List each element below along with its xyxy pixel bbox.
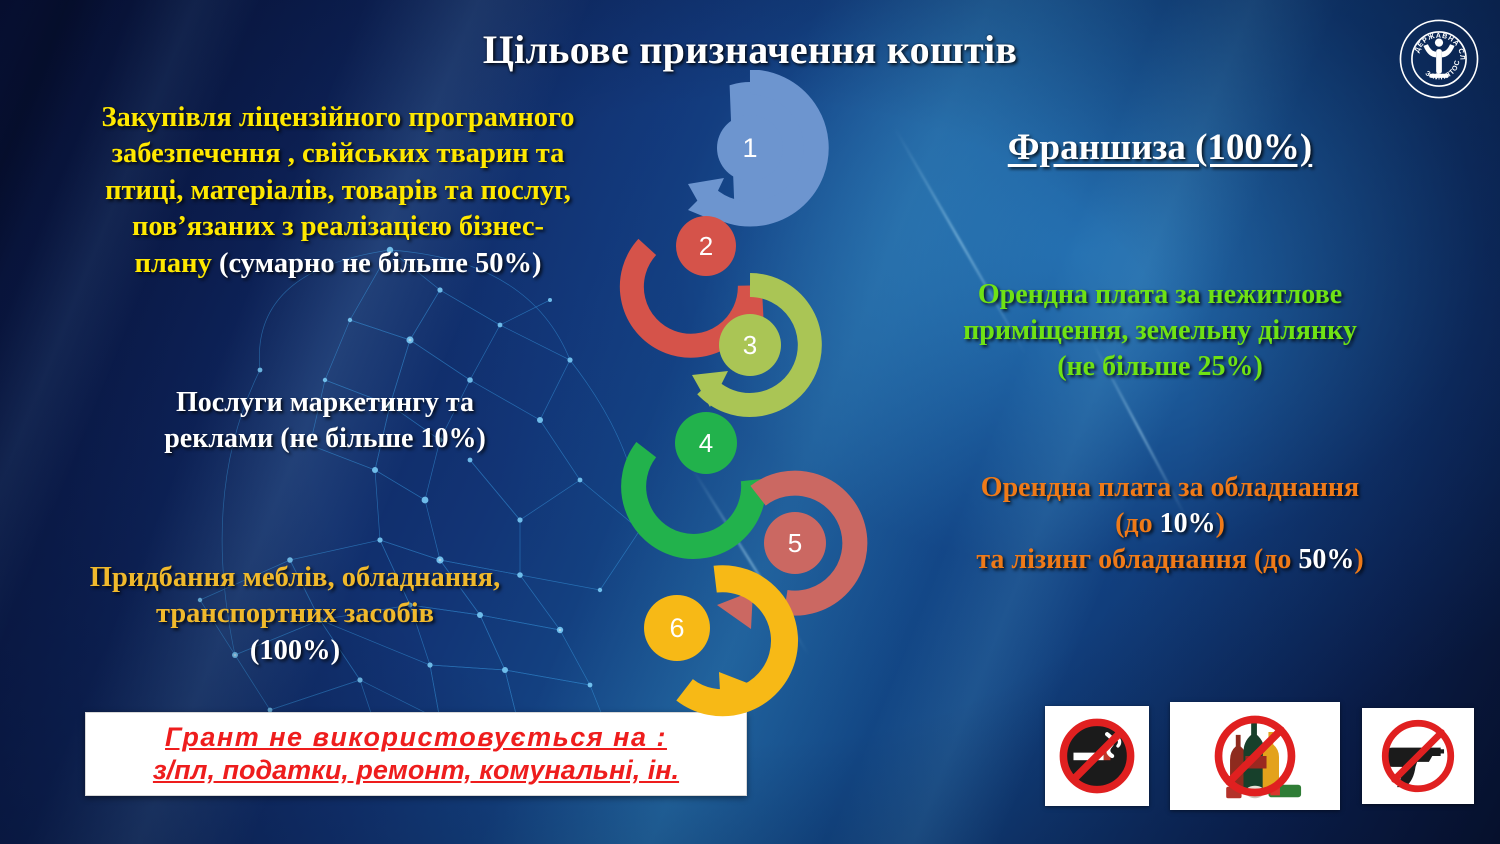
line: ) bbox=[1216, 508, 1225, 539]
line: Придбання меблів, обладнання, bbox=[90, 562, 500, 593]
line-limit: 10% bbox=[1160, 508, 1216, 539]
slide-canvas: Цільове призначення коштів ДЕРЖАВНА СЛУЖ… bbox=[0, 0, 1500, 844]
line: птиці, матеріалів, товарів та послуг, bbox=[105, 175, 571, 206]
step-number-4: 4 bbox=[699, 428, 713, 458]
no-alcohol-icon bbox=[1180, 708, 1330, 804]
line-limit: (сумарно не більше 50%) bbox=[219, 248, 542, 279]
line: транспортних засобів bbox=[156, 598, 434, 629]
restriction-list: з/пл, податки, ремонт, комунальні, ін. bbox=[153, 754, 679, 787]
page-title: Цільове призначення коштів bbox=[0, 26, 1500, 73]
no-weapons-sign bbox=[1362, 708, 1474, 804]
line: Орендна плата за обладнання bbox=[981, 472, 1359, 503]
no-smoking-icon bbox=[1055, 714, 1139, 798]
line: (до bbox=[1115, 508, 1160, 539]
line-limit: (100%) bbox=[250, 635, 340, 666]
line: забезпечення , свійських тварин та bbox=[112, 138, 565, 169]
line: Орендна плата за нежитлове bbox=[978, 279, 1342, 310]
line: приміщення, земельну ділянку bbox=[963, 315, 1357, 346]
no-weapons-icon bbox=[1370, 714, 1466, 798]
line: Послуги маркетингу та bbox=[176, 387, 474, 418]
no-alcohol-sign bbox=[1170, 702, 1340, 810]
step-number-1: 1 bbox=[742, 133, 757, 163]
step-number-6: 6 bbox=[669, 613, 684, 643]
line: пов’язаних з реалізацією бізнес- bbox=[132, 211, 544, 242]
line: Закупівля ліцензійного програмного bbox=[101, 102, 574, 133]
no-smoking-sign bbox=[1045, 706, 1149, 806]
step-number-3: 3 bbox=[743, 330, 757, 360]
prohibition-signs-group bbox=[1040, 700, 1480, 815]
funds-item-rent-premises: Орендна плата за нежитлове приміщення, з… bbox=[870, 277, 1450, 384]
funds-item-furniture: Придбання меблів, обладнання, транспортн… bbox=[10, 560, 580, 669]
line: (до bbox=[1254, 544, 1299, 575]
state-employment-service-logo-icon: ДЕРЖАВНА СЛУЖБА ЗАЙНЯТОСТІ bbox=[1398, 18, 1480, 100]
funds-item-software: Закупівля ліцензійного програмного забез… bbox=[8, 100, 668, 282]
franchise-heading: Франшиза (100%) bbox=[860, 124, 1460, 171]
line: та лізинг обладнання bbox=[976, 544, 1254, 575]
funds-item-marketing: Послуги маркетингу та реклами (не більше… bbox=[90, 385, 560, 457]
line: реклами (не більше 10%) bbox=[164, 423, 486, 454]
line: ) bbox=[1354, 544, 1363, 575]
circular-steps-diagram: 1 2 3 4 bbox=[575, 70, 915, 720]
step-number-2: 2 bbox=[699, 231, 713, 261]
funds-item-equipment-rent: Орендна плата за обладнання (до 10%) та … bbox=[870, 470, 1470, 577]
step-number-5: 5 bbox=[788, 528, 802, 558]
line: плану bbox=[135, 248, 219, 279]
line-limit: 50% bbox=[1298, 544, 1354, 575]
grant-restrictions-box: Грант не використовується на : з/пл, под… bbox=[85, 712, 747, 796]
line-limit: (не більше 25%) bbox=[1057, 351, 1263, 382]
restriction-heading: Грант не використовується на : bbox=[165, 721, 667, 754]
